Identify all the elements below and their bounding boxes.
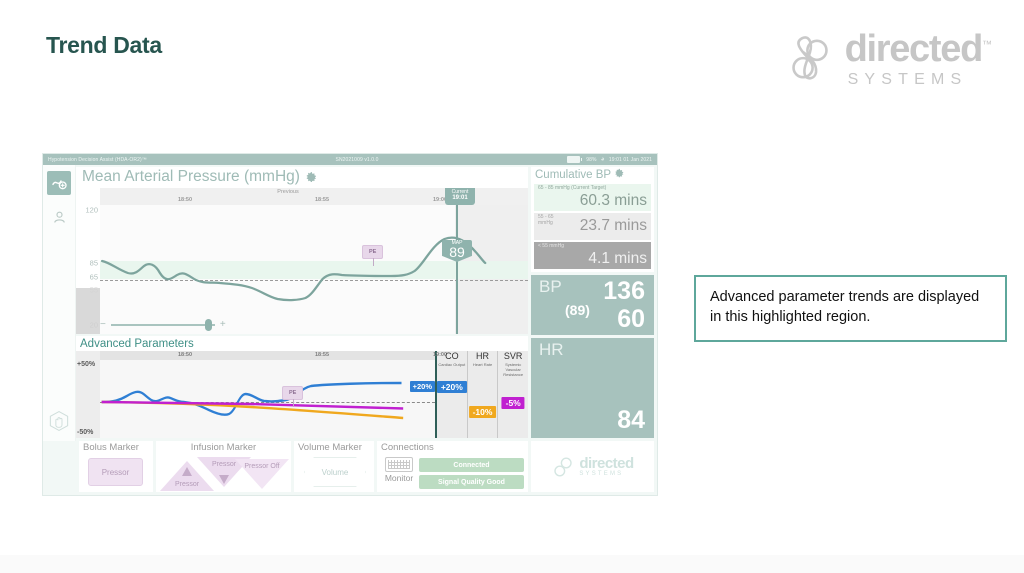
cumulative-bp-title: Cumulative BP: [534, 168, 651, 182]
map-y-tick-20: 20: [90, 321, 98, 330]
advanced-waveforms: [100, 360, 435, 436]
map-waveform: [100, 205, 528, 332]
bolus-pressor-button[interactable]: Pressor: [88, 458, 143, 486]
map-tick-1: 18:55: [315, 197, 329, 203]
param-name-co: CO: [437, 352, 467, 361]
bp-label: BP: [539, 277, 562, 296]
connection-status-badge: Connected: [419, 458, 524, 472]
volume-marker-card: Volume Marker Volume: [294, 441, 374, 492]
cumulative-range-low: < 55 mmHg: [538, 244, 647, 250]
adv-marker-pe[interactable]: PE: [282, 386, 303, 400]
map-current-time: 19:01: [445, 195, 475, 201]
bolus-marker-card: Bolus Marker Pressor: [79, 441, 153, 492]
zoom-out-button[interactable]: −: [100, 319, 106, 330]
slide-footer: [0, 555, 1024, 573]
adv-y-bottom-label: -50%: [77, 429, 93, 436]
map-y-tick-55: 55: [90, 286, 98, 295]
infusion-pressor-off-label: Pressor Off: [242, 463, 282, 470]
map-current-time-chip: Current 19:01: [445, 188, 475, 205]
hr-label: HR: [539, 340, 564, 359]
right-column: Cumulative BP 65 - 85 mmHg (Current Targ…: [531, 167, 654, 438]
directed-systems-mark-icon: [784, 33, 836, 85]
sidebar-item-patient[interactable]: [47, 205, 71, 229]
bp-card[interactable]: BP 136 (89) 60: [531, 275, 654, 335]
brand-word-1: directed: [845, 28, 982, 70]
cumulative-bp-title-text: Cumulative BP: [535, 169, 611, 181]
callout-box: Advanced parameter trends are displayed …: [694, 275, 1007, 342]
battery-percent: 98%: [586, 157, 596, 163]
hand-icon: [48, 410, 70, 432]
gear-icon: [614, 168, 625, 179]
device-screen: Hypotension Decision Assist (HDA-OR2)™ S…: [42, 153, 658, 496]
monitor-icon: [385, 457, 413, 472]
status-bar: Hypotension Decision Assist (HDA-OR2)™ S…: [43, 154, 657, 165]
cumulative-row-target[interactable]: 65 - 85 mmHg (Current Target) 60.3 mins: [534, 184, 651, 211]
cumulative-bp-card: Cumulative BP 65 - 85 mmHg (Current Targ…: [531, 167, 654, 272]
map-y-tick-120: 120: [85, 206, 98, 215]
bottom-bar: Bolus Marker Pressor Infusion Marker Pre…: [43, 441, 657, 495]
volume-marker-title: Volume Marker: [298, 443, 370, 453]
advanced-parameters-title: Advanced Parameters: [76, 336, 528, 351]
bolus-marker-title: Bolus Marker: [83, 443, 149, 453]
slide: Trend Data directed™ SYSTEMS Advanced pa…: [0, 0, 1024, 573]
cumulative-value-target: 60.3 mins: [538, 193, 647, 209]
cumulative-value-low: 4.1 mins: [538, 251, 647, 267]
brand-tm: ™: [982, 39, 992, 50]
cumulative-range-target: 65 - 85 mmHg (Current Target): [538, 186, 647, 192]
param-value-svr: -5%: [502, 397, 525, 409]
patient-icon: [52, 210, 67, 225]
map-previous-label: Previous: [100, 189, 476, 195]
gear-icon: [305, 171, 318, 184]
directed-systems-mark-icon: [551, 455, 575, 479]
zoom-slider-track[interactable]: [111, 324, 215, 326]
zoom-in-button[interactable]: +: [220, 319, 226, 330]
cumulative-value-mid: 23.7 mins: [538, 218, 647, 234]
monitor-indicator: Monitor: [383, 457, 415, 483]
device-logo-card: directed SYSTEMS: [531, 441, 654, 492]
volume-button[interactable]: Volume: [304, 457, 366, 487]
advanced-y-axis: +50% -50%: [76, 351, 100, 438]
cumulative-settings-button[interactable]: [614, 168, 625, 182]
param-value-co: +20%: [437, 381, 467, 393]
param-name-svr: SVR: [498, 352, 528, 361]
datetime: 19:01 01 Jan 2021: [609, 157, 652, 163]
adv-y-top-label: +50%: [77, 361, 95, 368]
sidebar: [43, 165, 76, 441]
bp-mean: (89): [565, 302, 590, 318]
bp-systolic: 136: [603, 279, 645, 304]
product-name: Hypotension Decision Assist (HDA-OR2)™: [48, 157, 147, 163]
device-logo-word-1: directed: [579, 456, 633, 471]
param-desc-svr: Systemic Vascular Resistance: [498, 362, 528, 377]
arrow-down-icon: [219, 475, 229, 484]
advanced-time-axis: 18:50 18:55 19:00: [100, 351, 435, 360]
map-plot[interactable]: Previous 18:50 18:55 19:00 Current 19:01: [100, 188, 528, 334]
cumulative-row-mid[interactable]: 55 - 65 mmHg 23.7 mins: [534, 213, 651, 240]
connections-title: Connections: [381, 443, 524, 453]
map-y-tick-65: 65: [90, 273, 98, 282]
map-marker-pe-label: PE: [369, 249, 376, 255]
adv-tick-0: 18:50: [178, 352, 192, 358]
param-value-hr: -10%: [469, 406, 497, 418]
param-name-hr: HR: [468, 352, 498, 361]
cumulative-row-low[interactable]: < 55 mmHg 4.1 mins: [534, 242, 651, 269]
map-marker-pe[interactable]: PE: [362, 245, 383, 259]
zoom-slider[interactable]: − +: [100, 319, 226, 330]
param-desc-hr: Heart Rate: [468, 362, 498, 367]
param-column-hr[interactable]: HR Heart Rate -10%: [467, 351, 498, 438]
map-now-line: [456, 205, 458, 334]
serial-version: SN2021009 v1.0.0: [147, 157, 567, 163]
monitor-label: Monitor: [383, 473, 415, 483]
advanced-param-columns: CO Cardiac Output +20% HR Heart Rate -10…: [435, 351, 528, 438]
infusion-pressor-off-button[interactable]: Pressor Off: [235, 457, 289, 489]
map-time-axis: Previous 18:50 18:55 19:00 Current 19:01: [100, 188, 528, 205]
adv-marker-pe-stem: [293, 399, 294, 407]
map-marker-pe-stem: [373, 258, 374, 266]
hr-card[interactable]: HR 84: [531, 338, 654, 438]
advanced-plot[interactable]: 18:50 18:55 19:00: [100, 351, 435, 438]
param-column-co[interactable]: CO Cardiac Output +20%: [437, 351, 467, 438]
trend-icon: [51, 175, 67, 191]
map-y-tick-85: 85: [90, 259, 98, 268]
signal-quality-badge: Signal Quality Good: [419, 475, 524, 489]
adv-badge-co: +20%: [410, 381, 435, 392]
map-settings-button[interactable]: [305, 171, 318, 184]
param-column-svr[interactable]: SVR Systemic Vascular Resistance -5%: [497, 351, 528, 438]
sidebar-item-standby[interactable]: [47, 409, 71, 433]
map-title: Mean Arterial Pressure (mmHg): [76, 167, 528, 188]
advanced-parameters-panel: Advanced Parameters +50% -50% 18:50: [76, 336, 528, 438]
hr-value: 84: [617, 408, 645, 433]
brand-word-2: SYSTEMS: [845, 72, 992, 88]
infusion-marker-title: Infusion Marker: [160, 443, 287, 453]
infusion-marker-card: Infusion Marker Pressor Pressor Pressor …: [156, 441, 291, 492]
battery-icon: [567, 156, 582, 163]
map-y-axis: 120 85 65 55 20: [76, 188, 100, 334]
zoom-slider-knob[interactable]: [205, 319, 212, 331]
brand-logo: directed™ SYSTEMS: [784, 30, 992, 88]
map-panel: Mean Arterial Pressure (mmHg): [76, 167, 528, 334]
param-desc-co: Cardiac Output: [437, 362, 467, 367]
page-title: Trend Data: [46, 32, 162, 59]
adv-tick-1: 18:55: [315, 352, 329, 358]
map-title-text: Mean Arterial Pressure (mmHg): [82, 168, 300, 186]
wifi-icon: ◕: [601, 156, 605, 163]
map-tick-0: 18:50: [178, 197, 192, 203]
sidebar-item-trend[interactable]: [47, 171, 71, 195]
adv-marker-pe-label: PE: [289, 390, 296, 396]
connections-card: Connections Monitor Connected Signal Qua…: [377, 441, 528, 492]
map-badge-value: 89: [442, 245, 472, 259]
bp-diastolic: 60: [617, 307, 645, 332]
arrow-up-icon: [182, 467, 192, 476]
